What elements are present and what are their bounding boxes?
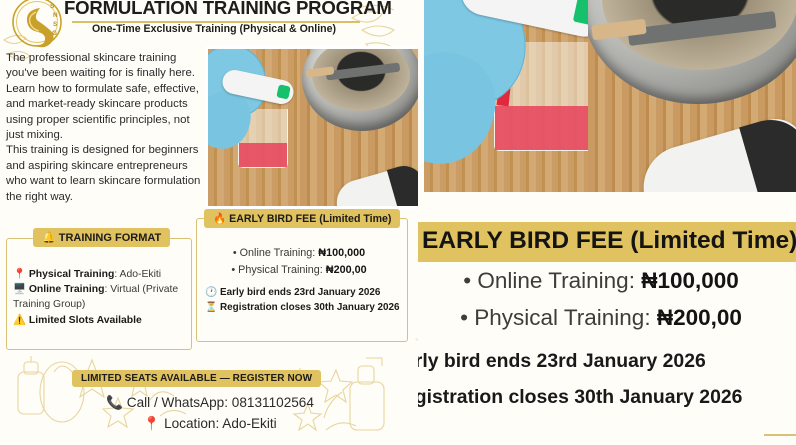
early-bird-heading-label: EARLY BIRD FEE (Limited Time) [229,213,391,225]
format-item-label: Physical Training [29,269,114,280]
svg-text:N: N [53,12,58,19]
photo-strip [205,46,421,209]
bell-icon: 🔔 [42,232,56,244]
training-format-heading: 🔔 TRAINING FORMAT [33,228,170,247]
price-bullet: • [231,264,235,276]
early-bird-date-list: 🕐 Early bird ends 23rd January 2026 ⏳ Re… [205,285,405,316]
list-item[interactable]: 📞 Call / WhatsApp: 08131102564 [60,392,360,413]
contact-location: Location: Ado-Ekiti [164,416,277,431]
list-item: • Physical Training: ₦200,00 [197,262,401,279]
early-bird-fee-card: 🔥 EARLY BIRD FEE (Limited Time) • Online… [196,218,408,342]
list-item: egistration closes 30th January 2026 [418,379,784,415]
pin-icon: 📍 [143,416,160,431]
format-item-label: Limited Slots Available [29,315,142,326]
magnified-overlay-panel: EARLY BIRD FEE (Limited Time) • Online T… [418,0,796,445]
list-item: • Online Training: ₦100,000 [197,245,401,262]
contact-block: 📞 Call / WhatsApp: 08131102564 📍 Locatio… [60,392,360,434]
format-item-label: Online Training [29,284,105,295]
register-banner: LIMITED SEATS AVAILABLE — REGISTER NOW [72,370,321,387]
early-bird-heading: 🔥 EARLY BIRD FEE (Limited Time) [204,209,400,228]
price-amount: ₦100,000 [318,247,365,259]
svg-text:G: G [52,30,57,37]
list-item: 📍 Physical Training: Ado-Ekiti [13,267,189,282]
flyer-base-panel: S N S G FORMULATION TRAINING PROGRAM One… [0,0,424,445]
date-text: Early bird ends 23rd January 2026 [220,287,380,298]
photo-thermometer-beaker [208,49,300,206]
date-text: Registration closes 30th January 2026 [220,302,399,313]
training-format-card: 🔔 TRAINING FORMAT 📍 Physical Training: A… [6,238,192,350]
svg-text:S: S [50,3,55,10]
pin-icon: 📍 [13,269,26,280]
list-item: 📍 Location: Ado-Ekiti [60,413,360,434]
hourglass-icon: ⏳ [205,302,217,313]
flyer-screenshot: S N S G FORMULATION TRAINING PROGRAM One… [0,0,796,445]
list-item: • Physical Training: ₦200,00 [418,299,796,336]
intro-paragraph-2: This training is designed for beginners … [6,143,206,205]
magnified-early-bird-heading: EARLY BIRD FEE (Limited Time) [418,222,796,262]
price-bullet: • [463,268,471,293]
magnified-price-list: • Online Training: ₦100,000 • Physical T… [418,262,796,336]
price-label: Online Training: [240,247,319,259]
price-label: Physical Training: [238,264,326,276]
price-amount: ₦200,00 [326,264,367,276]
format-item-value: : Ado-Ekiti [114,269,161,280]
list-item: 🖥️ Online Training: Virtual (Private Tra… [13,282,189,312]
intro-copy: The professional skincare training you'v… [6,51,206,205]
list-item: 🕐 Early bird ends 23rd January 2026 [205,285,405,300]
price-label: Physical Training: [474,305,657,330]
svg-text:S: S [53,21,58,28]
price-amount: ₦100,000 [641,268,739,293]
magnified-photo-strip [424,0,796,192]
page-title: FORMULATION TRAINING PROGRAM [64,0,364,18]
magnified-photo-thermometer-beaker [424,0,588,192]
contact-phone: Call / WhatsApp: 08131102564 [127,395,314,410]
price-label: Online Training: [477,268,641,293]
monitor-icon: 🖥️ [13,284,26,295]
training-format-list: 📍 Physical Training: Ado-Ekiti 🖥️ Online… [13,267,189,328]
early-bird-price-list: • Online Training: ₦100,000 • Physical T… [197,245,401,279]
photo-mixing-bowl [300,49,418,206]
magnified-photo-mixing-bowl [588,0,796,192]
clock-icon: 🕐 [205,287,217,298]
list-item: • Online Training: ₦100,000 [418,262,796,299]
list-item: arly bird ends 23rd January 2026 [418,343,784,379]
price-bullet: • [233,247,237,259]
snsg-logo-icon: S N S G [6,0,68,54]
fire-icon: 🔥 [213,213,226,225]
phone-icon: 📞 [106,395,123,410]
training-format-heading-label: TRAINING FORMAT [59,232,161,244]
list-item: ⏳ Registration closes 30th January 2026 [205,300,405,315]
price-amount: ₦200,00 [657,305,742,330]
warning-icon: ⚠️ [13,315,26,326]
page-subtitle: One-Time Exclusive Training (Physical & … [64,23,364,35]
list-item: ⚠️ Limited Slots Available [13,313,189,328]
price-bullet: • [460,305,468,330]
magnified-date-list: arly bird ends 23rd January 2026 egistra… [418,343,784,415]
intro-paragraph-1: The professional skincare training you'v… [6,51,206,143]
